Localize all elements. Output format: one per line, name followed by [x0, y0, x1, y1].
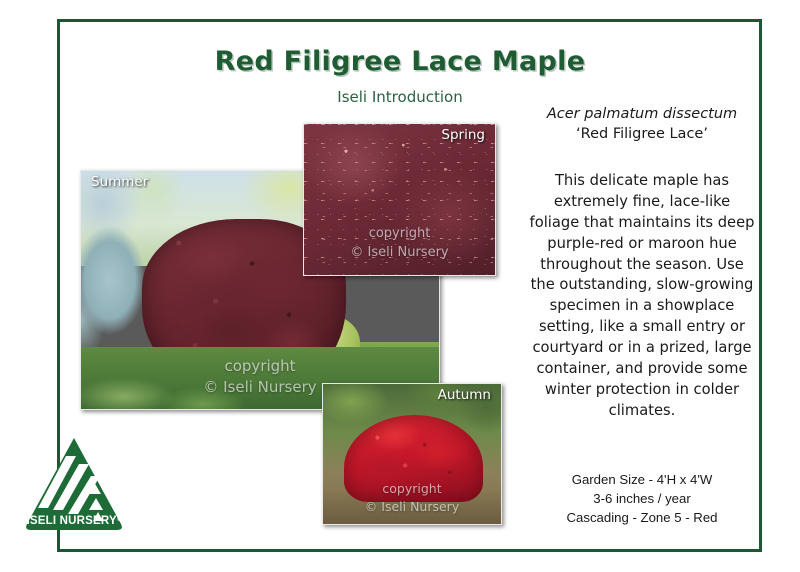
photo-autumn: Autumn copyright © Iseli Nursery [322, 383, 502, 525]
botanical-name: Acer palmatum dissectum [528, 104, 756, 124]
spring-leaf-tips [304, 124, 495, 275]
iseli-nursery-logo: ISELI NURSERY® [22, 432, 126, 536]
spring-scene [304, 124, 495, 275]
info-column: Acer palmatum dissectum ‘Red Filigree La… [528, 104, 756, 422]
plant-specs: Garden Size - 4'H x 4'W 3-6 inches / yea… [528, 470, 756, 527]
cultivar-name: ‘Red Filigree Lace’ [528, 124, 756, 144]
season-label-summer: Summer [91, 174, 148, 190]
spec-garden-size: Garden Size - 4'H x 4'W [528, 470, 756, 489]
autumn-scene [323, 384, 501, 524]
season-label-autumn: Autumn [438, 387, 491, 403]
spec-growth-rate: 3-6 inches / year [528, 489, 756, 508]
photo-spring: Spring copyright © Iseli Nursery [303, 123, 496, 276]
plant-description: This delicate maple has extremely fine, … [528, 171, 756, 422]
logo-wordmark: ISELI NURSERY® [27, 515, 122, 527]
nursery-triangle-icon: ISELI NURSERY® [22, 432, 126, 536]
page-title: Red Filigree Lace Maple [120, 46, 680, 77]
season-label-spring: Spring [441, 127, 485, 143]
spec-habit-zone-color: Cascading - Zone 5 - Red [528, 508, 756, 527]
